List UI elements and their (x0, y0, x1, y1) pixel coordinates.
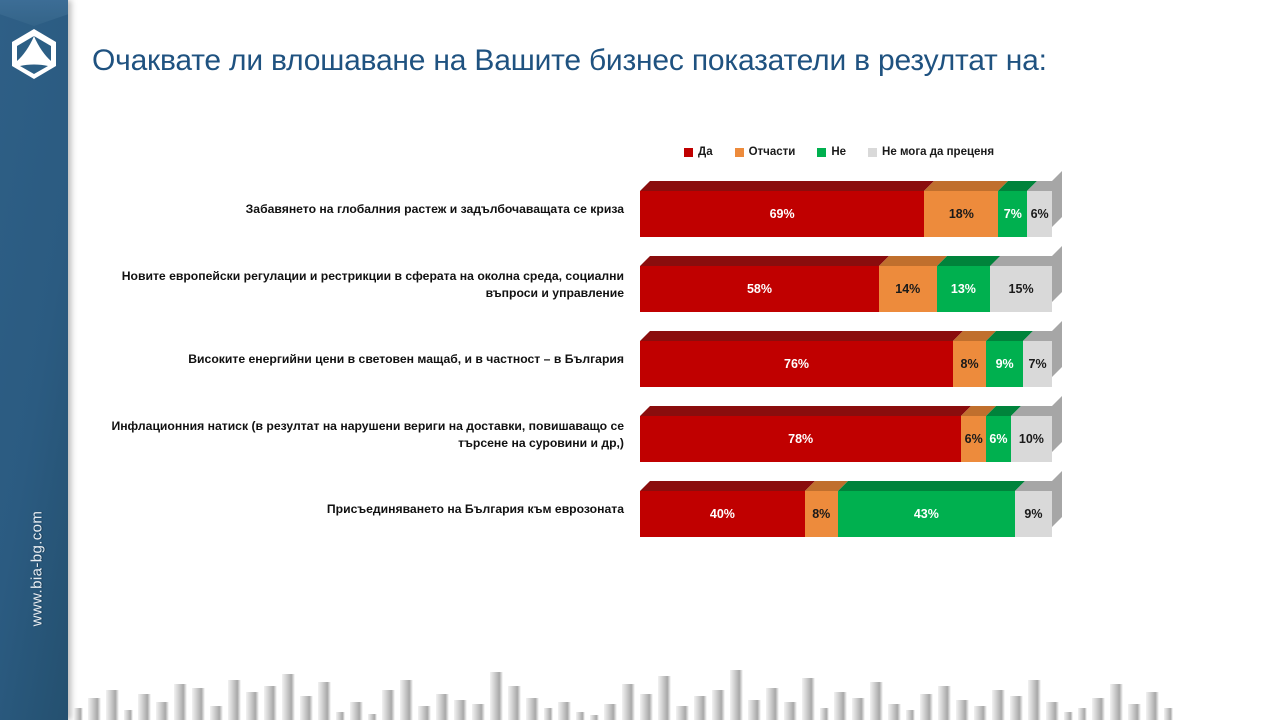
bar-segment[interactable]: 15% (990, 266, 1052, 312)
skyline-bar (974, 706, 987, 720)
chart-row: Новите европейски регулации и рестрикции… (92, 247, 1092, 322)
bar-segment[interactable]: 10% (1011, 416, 1052, 462)
bar-container: 76%8%9%7% (640, 331, 1062, 389)
bar-skyline-graphic (68, 658, 1280, 720)
legend-item-label: Да (698, 146, 713, 158)
category-label: Инфлационния натиск (в резултат на наруш… (92, 418, 640, 450)
skyline-bar (88, 698, 101, 720)
chart-rows: Забавянето на глобалния растеж и задълбо… (92, 172, 1092, 547)
stacked-bar-chart: ДаОтчастиНеНе мога да преценя Забавянето… (92, 140, 1092, 570)
stacked-bar[interactable]: 58%14%13%15% (640, 266, 1052, 312)
legend-swatch-icon (735, 148, 744, 157)
bar-segment[interactable]: 58% (640, 266, 879, 312)
category-label: Новите европейски регулации и рестрикции… (92, 268, 640, 300)
bar-segment[interactable]: 6% (961, 416, 986, 462)
skyline-bar (1092, 698, 1105, 720)
skyline-bar (558, 702, 571, 720)
legend-swatch-icon (868, 148, 877, 157)
data-label: 69% (770, 207, 795, 221)
skyline-bar (1010, 696, 1023, 720)
left-sidebar: www.bia-bg.com (0, 0, 68, 720)
skyline-bar (802, 678, 815, 720)
bar-segment[interactable]: 18% (924, 191, 998, 237)
bar-segment-top-face (640, 481, 815, 491)
data-label: 7% (1029, 357, 1047, 371)
bar-segment-side-face (1052, 471, 1062, 527)
chart-row: Високите енергийни цени в световен мащаб… (92, 322, 1092, 397)
skyline-bar (820, 708, 829, 720)
data-label: 76% (784, 357, 809, 371)
legend-item-label: Не (831, 146, 846, 158)
skyline-bar (1078, 708, 1087, 720)
skyline-bar (156, 702, 169, 720)
data-label: 14% (895, 282, 920, 296)
skyline-bar (938, 686, 951, 720)
skyline-bar (74, 708, 83, 720)
skyline-bar (246, 692, 259, 720)
skyline-bar (920, 694, 933, 720)
skyline-bar (418, 706, 431, 720)
bar-segment[interactable]: 40% (640, 491, 805, 537)
bar-segment-side-face (1052, 321, 1062, 377)
bar-segment[interactable]: 14% (879, 266, 937, 312)
category-label: Забавянето на глобалния растеж и задълбо… (92, 201, 640, 217)
skyline-bar (576, 712, 585, 720)
bar-segment[interactable]: 43% (838, 491, 1015, 537)
chart-row: Присъединяването на България към еврозон… (92, 472, 1092, 547)
stacked-bar[interactable]: 40%8%43%9% (640, 491, 1052, 537)
bar-segment-top-face (838, 481, 1025, 491)
skyline-bar (888, 704, 901, 720)
data-label: 13% (951, 282, 976, 296)
skyline-bar (106, 690, 119, 720)
data-label: 6% (989, 432, 1007, 446)
skyline-bar (526, 698, 539, 720)
bar-segment[interactable]: 76% (640, 341, 953, 387)
bar-segment-top-face (640, 406, 971, 416)
skyline-bar (852, 698, 865, 720)
legend-item[interactable]: Да (684, 146, 713, 158)
data-label: 40% (710, 507, 735, 521)
bar-segment-side-face (1052, 396, 1062, 452)
skyline-bar (300, 696, 313, 720)
skyline-bar (676, 706, 689, 720)
skyline-bar (436, 694, 449, 720)
legend-item[interactable]: Не мога да преценя (868, 146, 994, 158)
legend-swatch-icon (817, 148, 826, 157)
data-label: 10% (1019, 432, 1044, 446)
skyline-bar (508, 686, 521, 720)
bar-segment[interactable]: 69% (640, 191, 924, 237)
skyline-bar (906, 710, 915, 720)
skyline-bar (454, 700, 467, 720)
stacked-bar[interactable]: 69%18%7%6% (640, 191, 1052, 237)
legend-item[interactable]: Отчасти (735, 146, 796, 158)
skyline-bar (1146, 692, 1159, 720)
skyline-bar (1028, 680, 1041, 720)
stacked-bar[interactable]: 76%8%9%7% (640, 341, 1052, 387)
bar-container: 78%6%6%10% (640, 406, 1062, 464)
data-label: 8% (961, 357, 979, 371)
skyline-bar (992, 690, 1005, 720)
skyline-bar (490, 672, 503, 720)
bar-segment-top-face (924, 181, 1008, 191)
bar-segment-side-face (1052, 246, 1062, 302)
data-label: 6% (965, 432, 983, 446)
bia-hexagon-logo (11, 28, 57, 80)
data-label: 15% (1009, 282, 1034, 296)
skyline-bar (1110, 684, 1123, 720)
skyline-bar (1064, 712, 1073, 720)
bar-segment[interactable]: 78% (640, 416, 961, 462)
chart-row: Забавянето на глобалния растеж и задълбо… (92, 172, 1092, 247)
skyline-bar (622, 684, 635, 720)
skyline-bar (350, 702, 363, 720)
data-label: 8% (812, 507, 830, 521)
bar-segment[interactable]: 7% (998, 191, 1027, 237)
skyline-bar (400, 680, 413, 720)
skyline-bar (318, 682, 331, 720)
bar-segment[interactable]: 9% (1015, 491, 1052, 537)
skyline-bar (956, 700, 969, 720)
skyline-bar (730, 670, 743, 720)
data-label: 18% (949, 207, 974, 221)
bar-container: 58%14%13%15% (640, 256, 1062, 314)
skyline-bar (870, 682, 883, 720)
bar-segment[interactable]: 13% (937, 266, 991, 312)
skyline-bar (544, 708, 553, 720)
bar-segment-top-face (640, 181, 934, 191)
skyline-bar (694, 696, 707, 720)
skyline-bar (834, 692, 847, 720)
skyline-bar (472, 704, 485, 720)
chart-legend: ДаОтчастиНеНе мога да преценя (684, 146, 994, 158)
legend-item-label: Не мога да преценя (882, 146, 994, 158)
data-label: 7% (1004, 207, 1022, 221)
bar-container: 40%8%43%9% (640, 481, 1062, 539)
skyline-bar (336, 712, 345, 720)
skyline-bar (712, 690, 725, 720)
bar-segment[interactable]: 8% (805, 491, 838, 537)
skyline-bar (192, 688, 205, 720)
skyline-bar (590, 715, 599, 720)
skyline-bar (124, 710, 133, 720)
skyline-bar (784, 702, 797, 720)
skyline-bar (382, 690, 395, 720)
data-label: 43% (914, 507, 939, 521)
data-label: 9% (996, 357, 1014, 371)
bar-segment[interactable]: 6% (1027, 191, 1052, 237)
skyline-bar (658, 676, 671, 720)
bar-segment-top-face (879, 256, 947, 266)
skyline-bar (264, 686, 277, 720)
skyline-bar (1164, 708, 1173, 720)
skyline-bar (766, 688, 779, 720)
legend-swatch-icon (684, 148, 693, 157)
skyline-bar (138, 694, 151, 720)
skyline-bar (228, 680, 241, 720)
stacked-bar[interactable]: 78%6%6%10% (640, 416, 1052, 462)
page-title: Очаквате ли влошаване на Вашите бизнес п… (92, 44, 1222, 78)
bar-segment[interactable]: 7% (1023, 341, 1052, 387)
legend-item[interactable]: Не (817, 146, 846, 158)
skyline-bar (210, 706, 223, 720)
skyline-bar (640, 694, 653, 720)
bar-segment[interactable]: 8% (953, 341, 986, 387)
chart-row: Инфлационния натиск (в резултат на наруш… (92, 397, 1092, 472)
data-label: 6% (1031, 207, 1049, 221)
category-label: Високите енергийни цени в световен мащаб… (92, 351, 640, 367)
bar-container: 69%18%7%6% (640, 181, 1062, 239)
bar-segment-top-face (640, 331, 963, 341)
bar-segment-top-face (640, 256, 889, 266)
data-label: 78% (788, 432, 813, 446)
skyline-bar (174, 684, 187, 720)
skyline-bar (1046, 702, 1059, 720)
bar-segment-side-face (1052, 171, 1062, 227)
skyline-bar (604, 704, 617, 720)
legend-item-label: Отчасти (749, 146, 796, 158)
skyline-bar (368, 714, 377, 720)
data-label: 9% (1024, 507, 1042, 521)
skyline-bar (1128, 704, 1141, 720)
skyline-bar (748, 700, 761, 720)
category-label: Присъединяването на България към еврозон… (92, 501, 640, 517)
skyline-bar (282, 674, 295, 720)
bar-segment[interactable]: 6% (986, 416, 1011, 462)
data-label: 58% (747, 282, 772, 296)
bar-segment[interactable]: 9% (986, 341, 1023, 387)
website-url-label: www.bia-bg.com (29, 494, 46, 644)
